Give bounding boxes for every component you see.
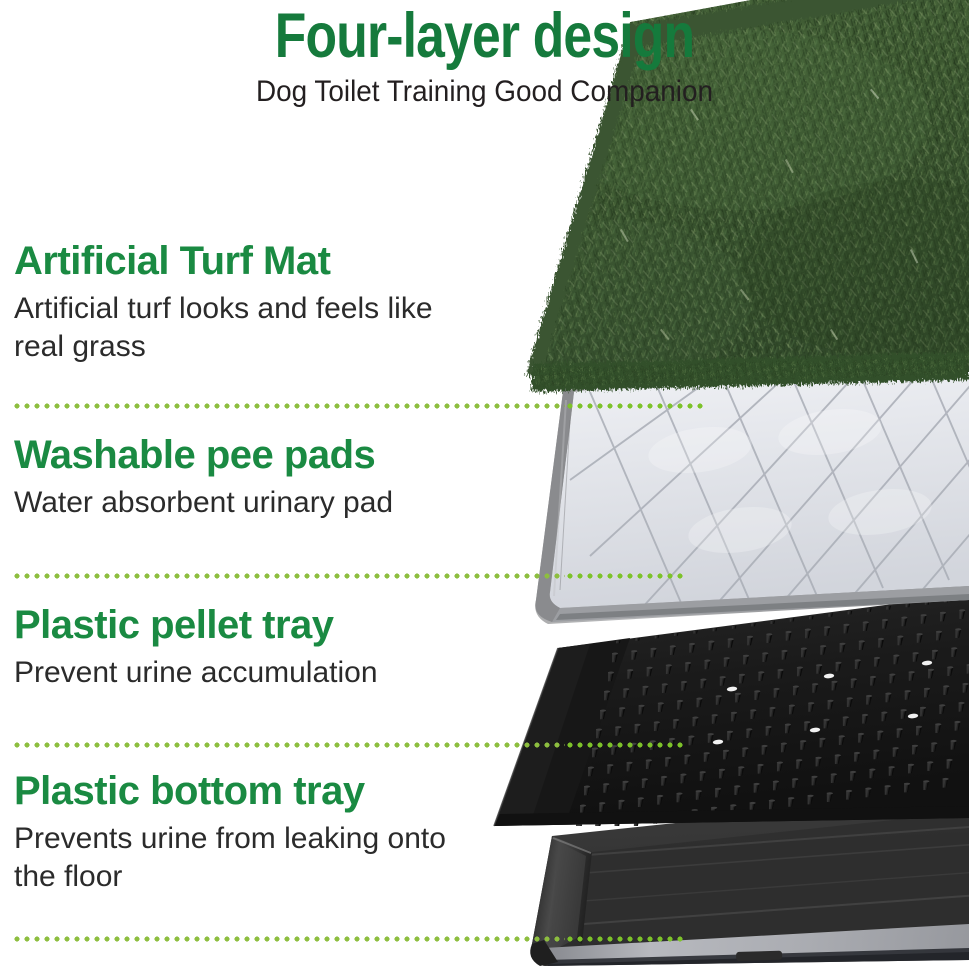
quilt-stitch-pattern bbox=[570, 300, 969, 614]
section-divider-4 bbox=[12, 936, 565, 942]
header: Four-layer design Dog Toilet Training Go… bbox=[0, 0, 969, 128]
feature-title: Washable pee pads bbox=[14, 432, 484, 478]
feature-artificial-turf-mat: Artificial Turf Mat Artificial turf look… bbox=[14, 238, 484, 366]
feature-plastic-pellet-tray: Plastic pellet tray Prevent urine accumu… bbox=[14, 602, 484, 692]
section-divider-3-overlay bbox=[565, 742, 685, 748]
layer-plastic-pellet-tray bbox=[494, 588, 969, 833]
section-divider-1 bbox=[12, 403, 565, 409]
section-divider-2 bbox=[12, 573, 565, 579]
page-subtitle: Dog Toilet Training Good Companion bbox=[34, 74, 935, 110]
pellet-peg-field bbox=[494, 588, 969, 833]
infographic-page: Four-layer design Dog Toilet Training Go… bbox=[0, 0, 969, 971]
feature-plastic-bottom-tray: Plastic bottom tray Prevents urine from … bbox=[14, 768, 484, 896]
feature-title: Plastic bottom tray bbox=[14, 768, 484, 814]
section-divider-4-overlay bbox=[565, 936, 685, 942]
section-divider-1-overlay bbox=[565, 403, 705, 409]
pellet-front-edge bbox=[494, 806, 969, 826]
feature-description: Water absorbent urinary pad bbox=[14, 484, 484, 522]
feature-washable-pee-pads: Washable pee pads Water absorbent urinar… bbox=[14, 432, 484, 522]
section-divider-2-overlay bbox=[565, 573, 683, 579]
turf-front-pile bbox=[532, 352, 969, 392]
feature-title: Plastic pellet tray bbox=[14, 602, 484, 648]
feature-description: Artificial turf looks and feels like rea… bbox=[14, 290, 484, 366]
feature-description: Prevents urine from leaking onto the flo… bbox=[14, 820, 484, 896]
drainage-holes bbox=[713, 660, 933, 745]
feature-title: Artificial Turf Mat bbox=[14, 238, 484, 284]
feature-description: Prevent urine accumulation bbox=[14, 654, 484, 692]
product-exploded-image bbox=[440, 0, 969, 971]
page-title: Four-layer design bbox=[87, 2, 882, 70]
section-divider-3 bbox=[12, 742, 565, 748]
